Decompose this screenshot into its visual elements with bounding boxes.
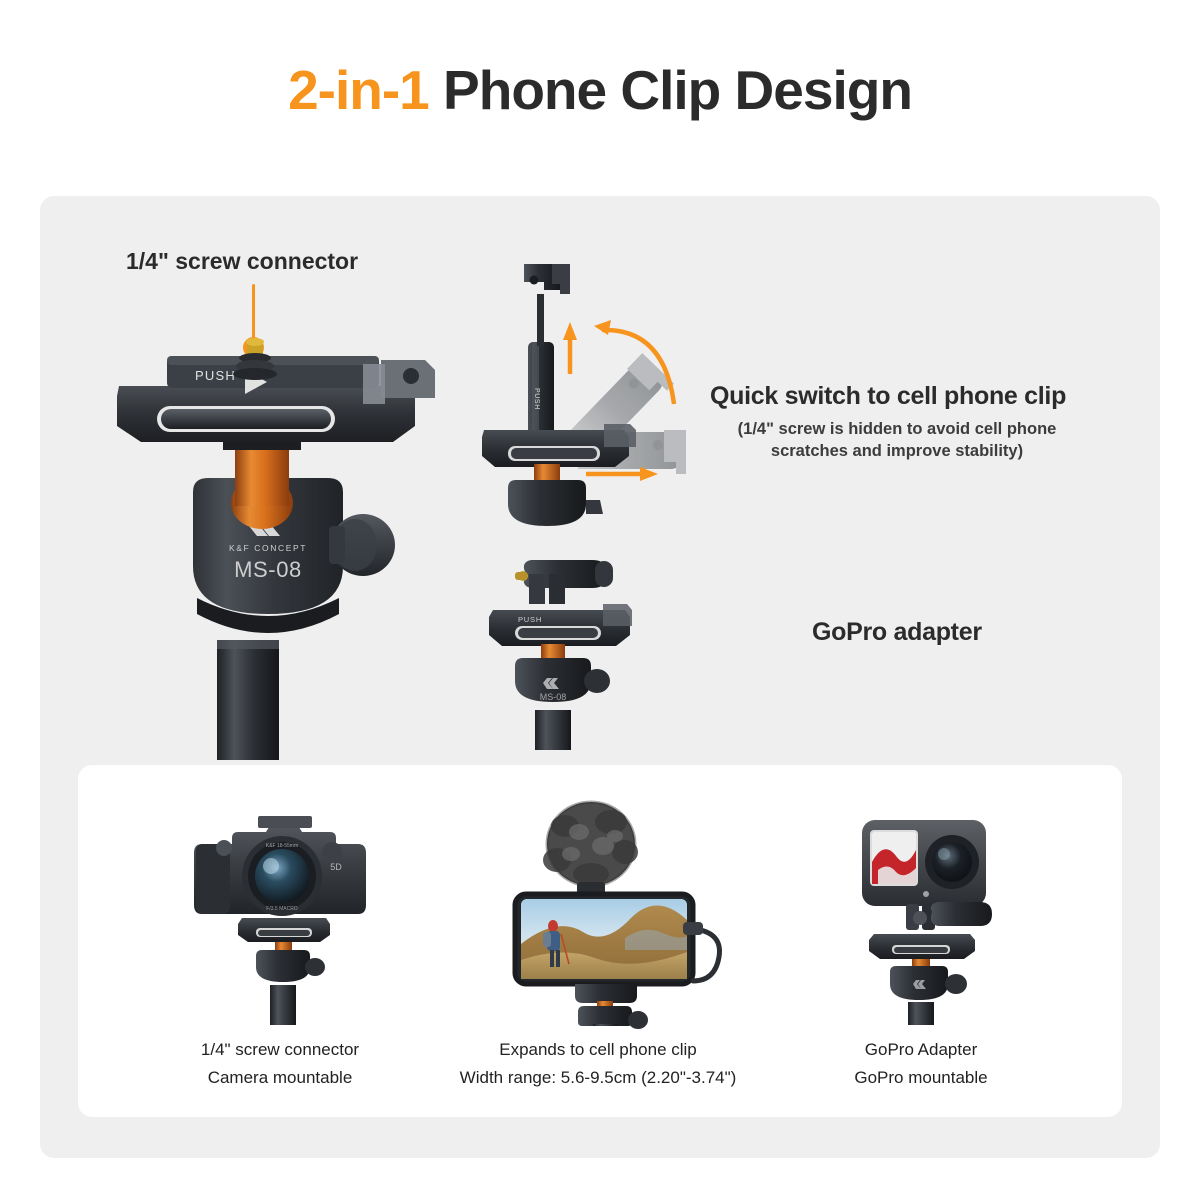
arrow-curve-head-icon [594,320,611,335]
quick-release-clamp: PUSH [117,356,435,442]
feature-1-subtext-line1: (1/4" screw is hidden to avoid cell phon… [707,418,1087,440]
gallery-caption-1: 1/4" screw connector Camera mountable [115,1036,445,1092]
callout-leader-line [252,284,255,342]
quick-release-clamp-small [482,424,636,467]
svg-text:MS-08: MS-08 [540,692,567,702]
svg-text:5D: 5D [330,862,342,872]
svg-text:PUSH: PUSH [518,615,542,624]
quick-switch-illustration: PUSH [478,250,708,540]
quarter-inch-screw [233,338,277,380]
gallery-item-phone-clip [505,798,720,1026]
svg-text:K&F 18-55mm: K&F 18-55mm [266,843,298,849]
push-label: PUSH [195,368,236,383]
ballhead-gallery-1 [238,918,330,1025]
gopro-finger-mount [515,560,613,604]
svg-text:PUSH: PUSH [533,388,540,410]
brand-text: K&F CONCEPT [229,543,307,553]
ballhead-small-2: MS-08 [515,644,610,702]
feature-1-subtext: (1/4" screw is hidden to avoid cell phon… [707,418,1087,462]
phone-cable [693,929,720,981]
gallery-caption-2-line2: Width range: 5.6-9.5cm (2.20"-3.74") [433,1064,763,1092]
center-column [217,640,279,760]
gallery-caption-2: Expands to cell phone clip Width range: … [433,1036,763,1092]
gallery-caption-1-line2: Camera mountable [115,1064,445,1092]
gallery-item-camera-mount: K&F 18-55mm F/3.5 MACRO 5D [178,800,388,1025]
feature-1-subtext-line2: scratches and improve stability) [707,440,1087,462]
svg-text:F/3.5 MACRO: F/3.5 MACRO [266,906,298,912]
ballhead-gallery-2 [575,984,648,1029]
ballhead-gallery-3 [869,934,975,1025]
feature-1-heading: Quick switch to cell phone clip [710,382,1066,411]
gallery-caption-1-line1: 1/4" screw connector [115,1036,445,1064]
page-title-accent: 2-in-1 [288,59,429,121]
gallery-caption-3: GoPro Adapter GoPro mountable [756,1036,1086,1092]
gopro-adapter-illustration: PUSH MS-08 [485,550,655,750]
feature-2-heading: GoPro adapter [812,618,982,647]
gallery-caption-3-line2: GoPro mountable [756,1064,1086,1092]
knurled-grip [161,409,331,429]
microphone-windscreen [543,802,638,896]
dslr-camera: K&F 18-55mm F/3.5 MACRO 5D [194,816,366,916]
quick-release-clamp-small-2: PUSH [489,604,632,646]
cable-plug [683,922,703,935]
arrow-right-icon [640,467,658,481]
gopro-camera [862,820,986,906]
model-text: MS-08 [234,557,302,582]
smartphone [515,894,693,984]
page-title-rest: Phone Clip Design [443,59,912,121]
callout-label: 1/4" screw connector [126,248,358,275]
phone-clip-arm-active: PUSH [524,264,570,442]
main-ballhead-illustration: K&F CONCEPT MS-08 PUSH [105,340,435,760]
gallery-caption-2-line1: Expands to cell phone clip [433,1036,763,1064]
gallery-item-gopro-mount [848,800,1018,1025]
page-title: 2-in-1 Phone Clip Design [0,58,1200,122]
arrow-up-icon [563,322,577,340]
ballhead-body: K&F CONCEPT MS-08 [193,478,395,633]
gallery-caption-3-line1: GoPro Adapter [756,1036,1086,1064]
gopro-finger-mount-2 [906,902,992,930]
